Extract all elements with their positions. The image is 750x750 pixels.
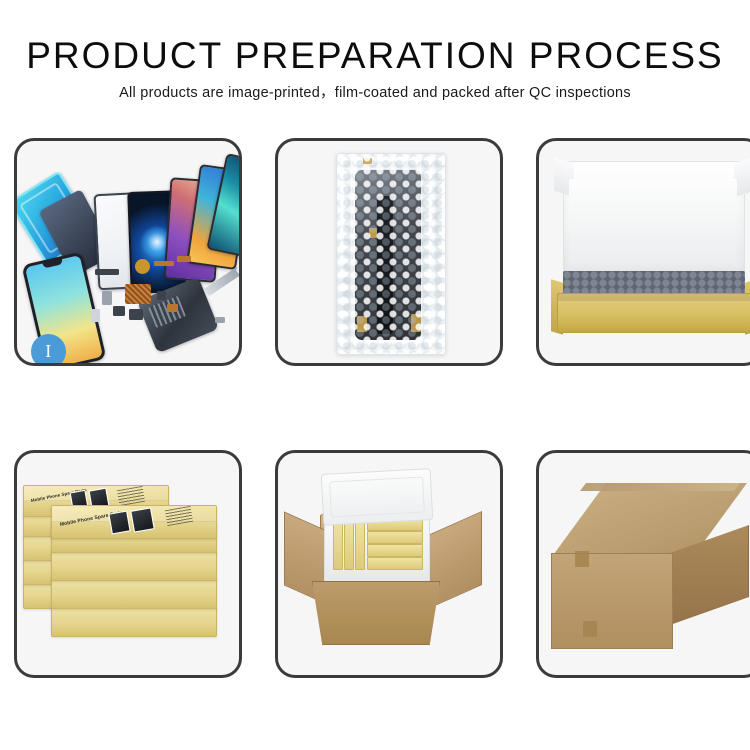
packed-box-7 <box>367 557 423 570</box>
foam-box-lid <box>321 468 434 526</box>
camera-module-component <box>102 291 112 305</box>
step-1-illustration <box>17 141 239 363</box>
step-panel-1: I <box>14 138 242 366</box>
packed-box-1 <box>333 520 343 570</box>
bubble-wrap-bag <box>336 153 446 355</box>
carton-body-open <box>312 581 440 645</box>
retail-box-window-front-1 <box>108 511 130 535</box>
product-preparation-page: PRODUCT PREPARATION PROCESS All products… <box>0 0 750 750</box>
bag-tape-bottom-left <box>357 316 367 332</box>
retail-box-stack: Mobile Phone Spare Parts Mobile Phone Sp… <box>17 453 239 675</box>
bag-tape-middle <box>369 228 377 238</box>
chip-component <box>157 291 166 300</box>
flex-cable-small-component <box>177 256 191 262</box>
step-panel-3: III <box>536 138 750 366</box>
retail-box-text-block-back <box>117 486 145 506</box>
page-header: PRODUCT PREPARATION PROCESS All products… <box>0 34 750 103</box>
step-badge-1: I <box>31 334 66 366</box>
flex-cable-component <box>154 261 174 266</box>
speaker-component <box>135 259 150 274</box>
connector-component <box>167 304 178 312</box>
step-4-illustration: Mobile Phone Spare Parts Mobile Phone Sp… <box>17 453 239 675</box>
antenna-strip-component <box>95 269 119 275</box>
page-title: PRODUCT PREPARATION PROCESS <box>0 34 750 78</box>
carton-front-face <box>551 553 673 649</box>
vibrator-component <box>113 306 125 316</box>
retail-box-window-front-2 <box>130 507 155 532</box>
shield-plate-component <box>125 284 151 304</box>
packed-box-3 <box>355 520 365 570</box>
step-2-illustration <box>278 141 500 363</box>
kraft-tray-box <box>557 293 750 333</box>
bag-tape-bottom-right <box>411 314 421 332</box>
packed-box-5 <box>367 531 423 544</box>
retail-box-text-block-front <box>165 506 193 526</box>
retail-box-front-5 <box>51 605 217 637</box>
retail-box-front-4 <box>51 577 217 609</box>
packed-box-2 <box>344 520 354 570</box>
step-panel-5: V <box>275 450 503 678</box>
step-panel-2: II <box>275 138 503 366</box>
foam-insert <box>569 179 737 263</box>
step-5-illustration <box>278 453 500 675</box>
packed-box-6 <box>367 544 423 557</box>
process-steps-grid: I II <box>14 138 736 688</box>
sim-tray-component <box>91 309 100 322</box>
step-panel-4: Mobile Phone Spare Parts Mobile Phone Sp… <box>14 450 242 678</box>
receiver-component <box>129 309 143 320</box>
carton-tape-upper <box>575 551 589 567</box>
step-panel-6: VI <box>536 450 750 678</box>
carton-tape-lower <box>583 621 597 637</box>
bag-tape-top <box>363 158 372 164</box>
screw-set-component <box>215 317 225 323</box>
retail-box-front-3 <box>51 549 217 581</box>
carton-seam <box>580 483 740 491</box>
step-3-illustration <box>539 141 750 363</box>
retail-box-front-top: Mobile Phone Spare Parts <box>51 505 217 539</box>
page-subtitle: All products are image-printed，film-coat… <box>0 83 750 103</box>
wrapped-part-flex <box>377 196 393 334</box>
step-6-illustration <box>539 453 750 675</box>
